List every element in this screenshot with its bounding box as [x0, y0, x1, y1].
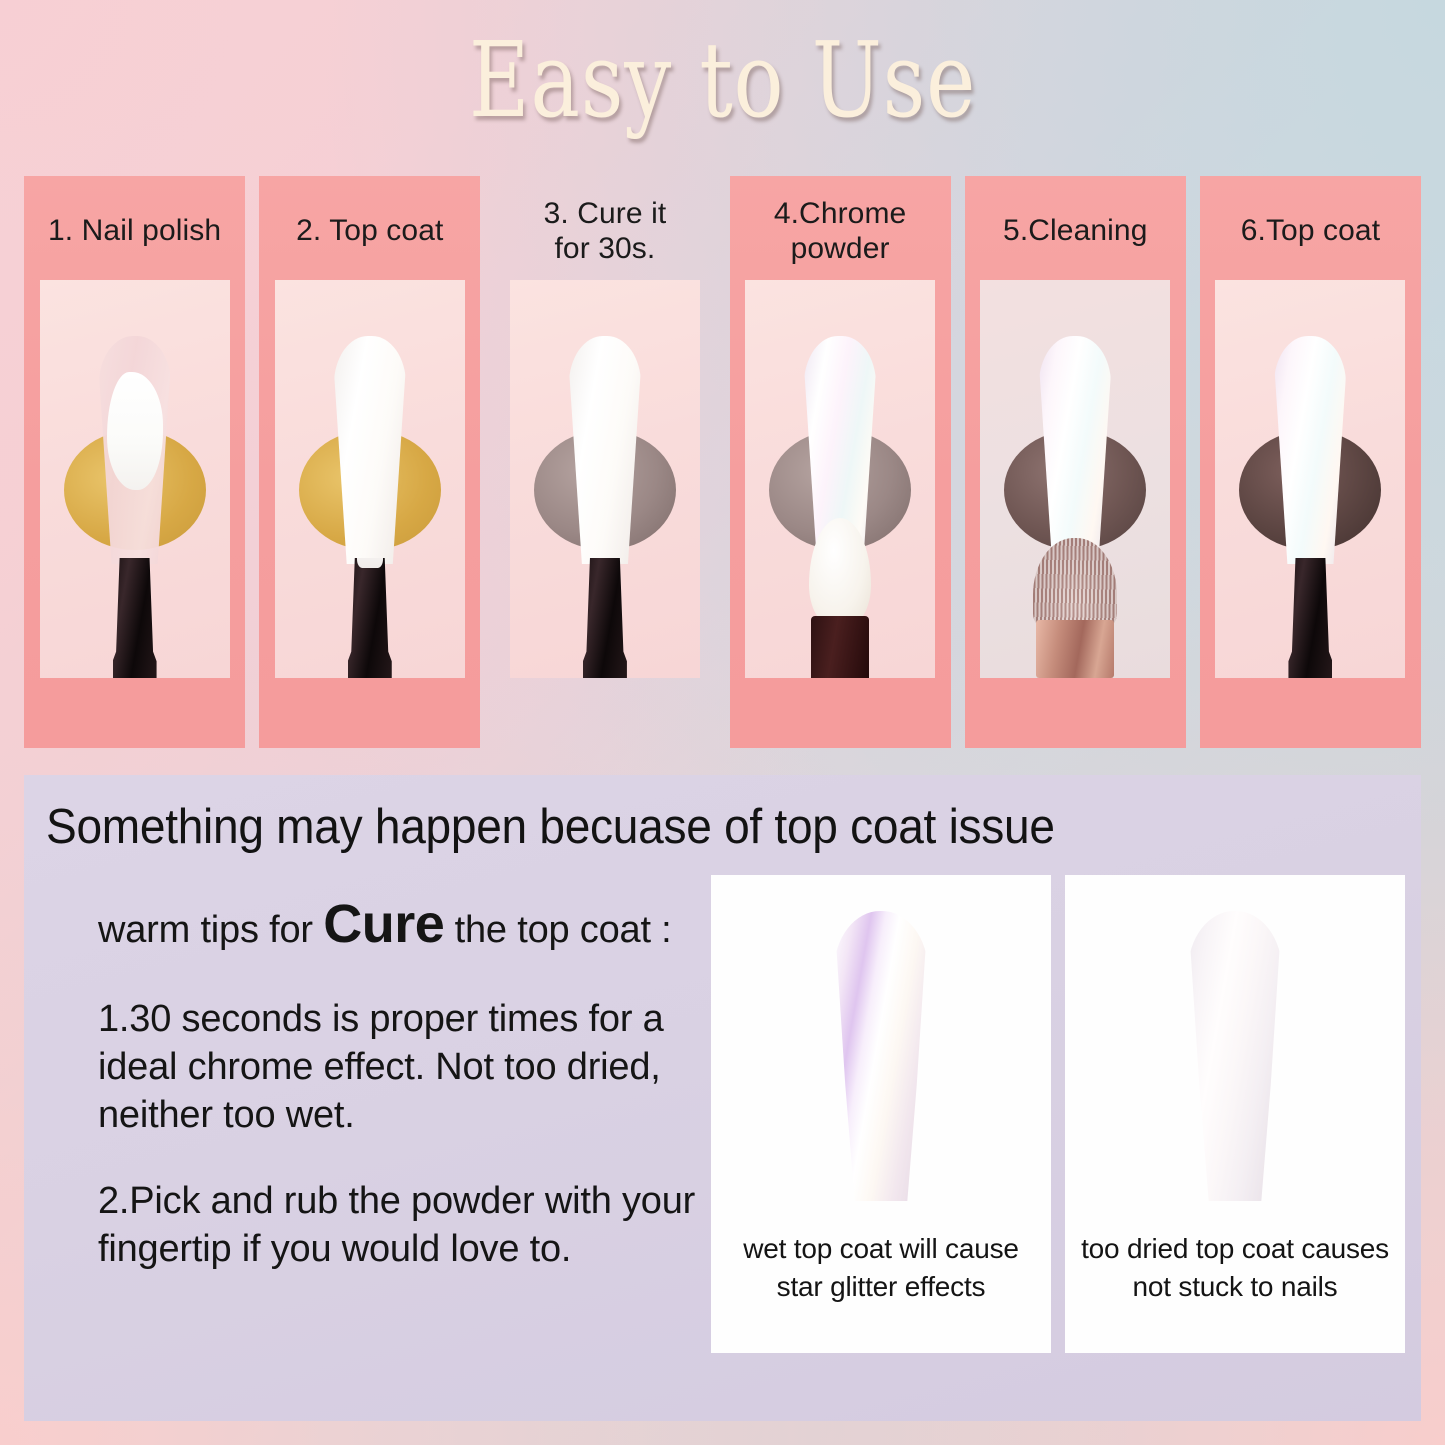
sample-card-dried[interactable]: too dried top coat causes not stuck to n…: [1065, 875, 1405, 1353]
sample-cards: wet top coat will cause star glitter eff…: [711, 875, 1405, 1353]
step-1-label: 1. Nail polish: [24, 176, 245, 280]
step-card-2[interactable]: 2. Top coat: [259, 176, 480, 748]
nail-chrome: [1039, 336, 1111, 564]
nail-wet-topcoat: [834, 911, 928, 1201]
steps-strip: 1. Nail polish 2. Top coat 3. Cure it fo…: [24, 176, 1421, 748]
sponge-handle: [811, 616, 869, 678]
step-card-5[interactable]: 5.Cleaning: [965, 176, 1186, 748]
polish-smear: [107, 372, 163, 490]
brush-bristles: [1033, 538, 1117, 630]
tip-item-1: 1.30 seconds is proper times for a ideal…: [98, 996, 718, 1140]
lead-before-text: warm tips for: [98, 909, 323, 951]
nail-chrome: [1274, 336, 1346, 564]
step-6-label: 6.Top coat: [1200, 176, 1421, 280]
step-1-image: [40, 280, 230, 678]
step-card-1[interactable]: 1. Nail polish: [24, 176, 245, 748]
sample-card-wet[interactable]: wet top coat will cause star glitter eff…: [711, 875, 1051, 1353]
step-4-image: [745, 280, 935, 678]
warm-tips-block: warm tips for Cure the top coat : 1.30 s…: [98, 890, 718, 1273]
troubleshooting-section: Something may happen becuase of top coat…: [24, 775, 1421, 1421]
sponge-applicator-icon: [805, 518, 875, 678]
nail-white: [569, 336, 641, 564]
sponge-tip: [809, 518, 871, 626]
step-3-label: 3. Cure it for 30s.: [494, 176, 715, 280]
tip-item-2: 2.Pick and rub the powder with your fing…: [98, 1178, 718, 1274]
sample-dried-image: [1065, 875, 1405, 1230]
step-5-image: [980, 280, 1170, 678]
sample-wet-caption: wet top coat will cause star glitter eff…: [711, 1230, 1051, 1306]
step-card-3[interactable]: 3. Cure it for 30s.: [494, 176, 715, 748]
brush-ferrule: [1036, 620, 1114, 678]
dust-brush-icon: [1023, 538, 1127, 678]
warm-tips-lead: warm tips for Cure the top coat :: [98, 890, 718, 958]
sample-wet-image: [711, 875, 1051, 1230]
step-2-label: 2. Top coat: [259, 176, 480, 280]
polish-brush-icon: [1288, 558, 1332, 678]
wet-brush-icon: [348, 558, 392, 678]
step-6-image: [1215, 280, 1405, 678]
nail-dried-topcoat: [1188, 911, 1282, 1201]
step-card-4[interactable]: 4.Chrome powder: [730, 176, 951, 748]
step-2-image: [275, 280, 465, 678]
step-4-label: 4.Chrome powder: [730, 176, 951, 280]
step-5-label: 5.Cleaning: [965, 176, 1186, 280]
section-heading: Something may happen becuase of top coat…: [46, 799, 1324, 855]
lead-emphasis-text: Cure: [323, 894, 444, 954]
sample-dried-caption: too dried top coat causes not stuck to n…: [1065, 1230, 1405, 1306]
step-3-image: [510, 280, 700, 678]
polish-brush-icon: [583, 558, 627, 678]
polish-brush-icon: [113, 558, 157, 678]
step-card-6[interactable]: 6.Top coat: [1200, 176, 1421, 748]
page-title: Easy to Use: [145, 26, 1301, 135]
nail-white: [334, 336, 406, 564]
lead-after-text: the top coat :: [444, 909, 671, 951]
